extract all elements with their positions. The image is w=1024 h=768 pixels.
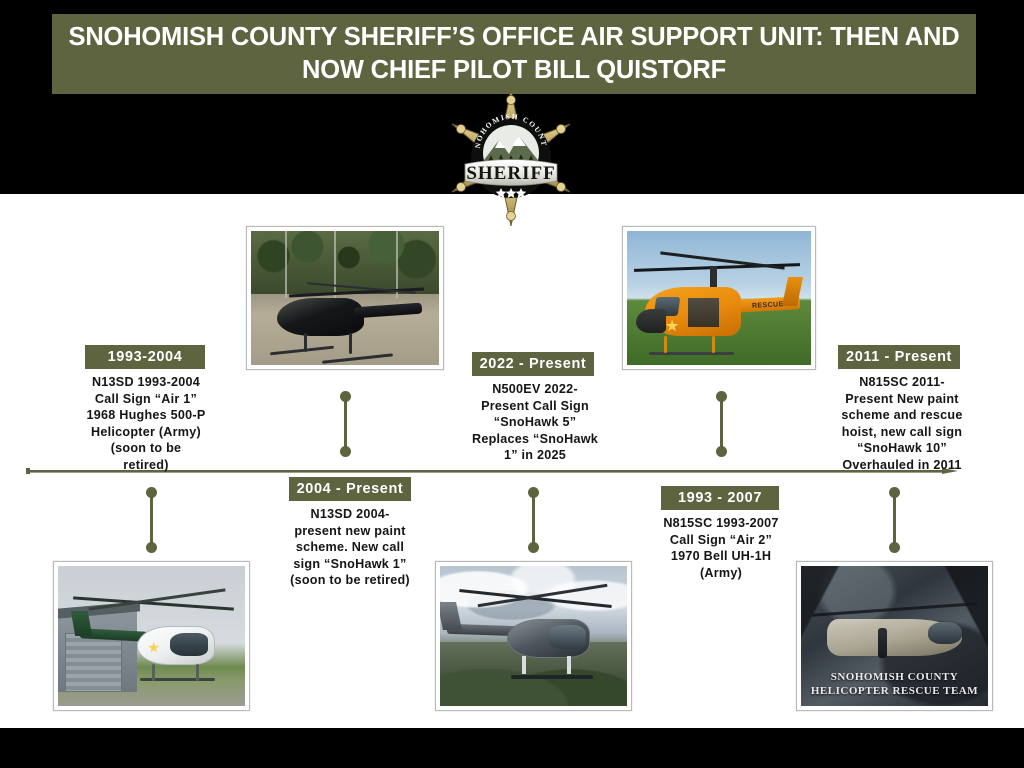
svg-text:SHERIFF: SHERIFF xyxy=(466,163,555,184)
timeline-description-1993-2007: N815SC 1993-2007 Call Sign “Air 2” 1970 … xyxy=(648,515,794,581)
page-title: SNOHOMISH COUNTY SHERIFF’S OFFICE AIR SU… xyxy=(66,21,962,87)
rescue-caption-line1: SNOHOMISH COUNTY xyxy=(801,670,988,684)
timeline-description-1993-2004: N13SD 1993-2004 Call Sign “Air 1” 1968 H… xyxy=(75,374,217,473)
rescue-caption-line2: HELICOPTER RESCUE TEAM xyxy=(801,684,988,698)
slide-root: SNOHOMISH COUNTY SHERIFF’S OFFICE AIR SU… xyxy=(0,0,1024,768)
photo-orange-bell-uh1h: RESCUE xyxy=(622,226,816,370)
photo-caption-rescue-team: SNOHOMISH COUNTY HELICOPTER RESCUE TEAM xyxy=(801,670,988,698)
connector-stem-4 xyxy=(150,492,153,548)
connector-stem-3 xyxy=(720,396,723,452)
timeline-description-2004-present: N13SD 2004- present new paint scheme. Ne… xyxy=(272,506,428,589)
timeline-chip-1993-2007: 1993 - 2007 xyxy=(661,486,779,510)
connector-stem-1 xyxy=(344,396,347,452)
connector-stem-2 xyxy=(532,492,535,548)
photo-grey-md500 xyxy=(435,561,632,711)
photo-white-green-hughes-500 xyxy=(53,561,250,711)
timeline-chip-2011-present: 2011 - Present xyxy=(838,345,960,369)
timeline-chip-2004-present: 2004 - Present xyxy=(289,477,411,501)
photo-rescue-team: SNOHOMISH COUNTY HELICOPTER RESCUE TEAM xyxy=(796,561,993,711)
timeline-description-2011-present: N815SC 2011- Present New paint scheme an… xyxy=(829,374,975,473)
timeline-chip-2022-present: 2022 - Present xyxy=(472,352,594,376)
timeline-chip-1993-2004: 1993-2004 xyxy=(85,345,205,369)
connector-stem-5 xyxy=(893,492,896,548)
title-bar: SNOHOMISH COUNTY SHERIFF’S OFFICE AIR SU… xyxy=(52,14,976,94)
sheriff-badge-logo: SNOHOMISH COUNTY SHERIFF xyxy=(437,88,585,226)
photo-black-hughes-500 xyxy=(246,226,444,370)
timeline-description-2022-present: N500EV 2022- Present Call Sign “SnoHawk … xyxy=(461,381,609,464)
photo-bg-trees xyxy=(251,231,439,294)
badge-icon: SNOHOMISH COUNTY SHERIFF xyxy=(437,88,585,226)
bottom-black-band xyxy=(0,728,1024,768)
